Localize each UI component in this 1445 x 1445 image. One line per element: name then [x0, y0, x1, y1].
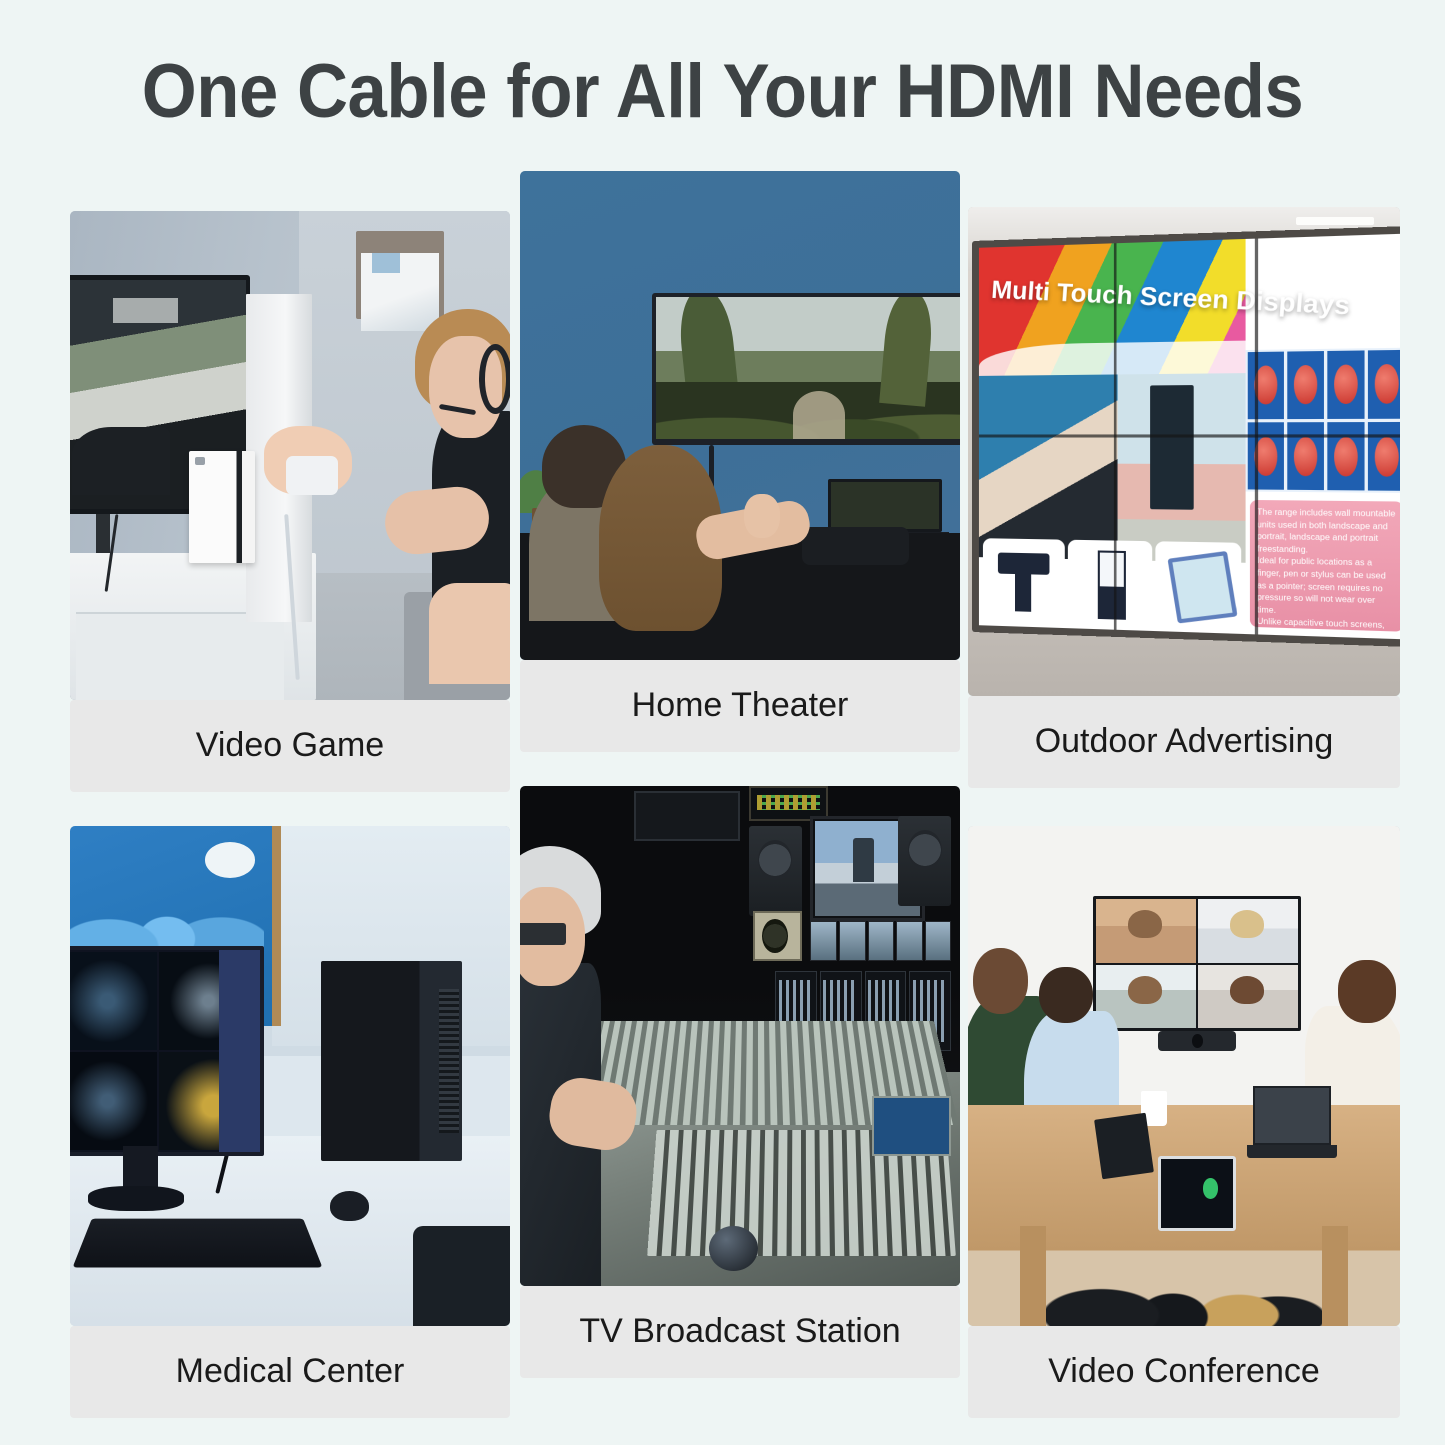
video-call-grid: [1096, 899, 1297, 1028]
tower-pc: [321, 961, 462, 1161]
laptop: [1253, 1086, 1331, 1166]
card-outdoor-advertising[interactable]: Multi Touch Screen Displays: [968, 207, 1400, 788]
man-hand: [744, 494, 779, 538]
studio-speaker-right: [898, 816, 951, 906]
chair: [413, 1226, 510, 1326]
tablet-keyboard: [1094, 1113, 1154, 1180]
player-figure: [352, 309, 510, 700]
caption-medical-center: Medical Center: [70, 1326, 510, 1418]
photo-home-theater: [520, 171, 960, 660]
card-video-game[interactable]: Video Game: [70, 211, 510, 792]
caption-outdoor-advertising: Outdoor Advertising: [968, 696, 1400, 788]
photo-tv-broadcast-station: [520, 786, 960, 1286]
video-wall: Multi Touch Screen Displays: [972, 226, 1400, 648]
table-leg-right: [1322, 1226, 1348, 1326]
seated-legs: [1046, 1216, 1322, 1326]
card-tv-broadcast-station[interactable]: TV Broadcast Station: [520, 786, 960, 1378]
game-console: [189, 451, 255, 563]
preview-monitor-row: [810, 921, 951, 961]
wall-mounted-tv: [652, 293, 960, 445]
card-medical-center[interactable]: Medical Center: [70, 826, 510, 1418]
video-wall-seams: [979, 234, 1400, 640]
infographic-page: One Cable for All Your HDMI Needs: [0, 0, 1445, 1445]
mouse: [330, 1191, 370, 1221]
framed-picture-icon: [356, 231, 444, 319]
card-video-conference[interactable]: Video Conference: [968, 826, 1400, 1418]
use-case-grid: Video Game: [0, 0, 1445, 1445]
photo-video-game: [70, 211, 510, 700]
vintage-speaker: [753, 911, 801, 961]
overhead-monitor: [634, 791, 740, 841]
software-sidebar: [219, 950, 260, 1152]
caption-tv-broadcast-station: TV Broadcast Station: [520, 1286, 960, 1378]
imaging-monitor: [70, 946, 264, 1156]
card-home-theater[interactable]: Home Theater: [520, 171, 960, 752]
photo-outdoor-advertising: Multi Touch Screen Displays: [968, 207, 1400, 696]
caption-video-conference: Video Conference: [968, 1326, 1400, 1418]
photo-video-conference: [968, 826, 1400, 1326]
game-controller: [286, 456, 339, 495]
conference-tv: [1093, 896, 1300, 1031]
monitor-base: [88, 1186, 185, 1211]
engineer-figure: [520, 846, 661, 1286]
caption-video-game: Video Game: [70, 700, 510, 792]
caption-home-theater: Home Theater: [520, 660, 960, 752]
conference-camera-bar: [1158, 1031, 1236, 1051]
headset-icon: [479, 344, 510, 414]
keyboard: [73, 1219, 323, 1268]
table-leg-left: [1020, 1226, 1046, 1326]
photo-medical-center: [70, 826, 510, 1326]
trackball: [709, 1226, 757, 1271]
studio-speaker-left: [749, 826, 802, 916]
console-touch-panel: [872, 1096, 951, 1156]
glasses-icon: [520, 923, 566, 946]
